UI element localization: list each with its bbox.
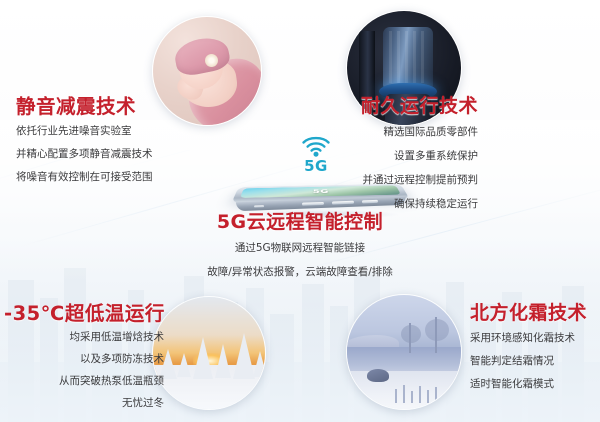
feature-line-lowtemp-2: 从而突破热泵低温瓶颈 <box>4 373 164 390</box>
sleeping-baby-photo <box>152 16 262 126</box>
feature-block-lowtemp: -35℃超低温运行 均采用低温增焓技术 以及多项防冻技术 从而突破热泵低温瓶颈 … <box>4 303 164 412</box>
feature-line-durable-2: 并通过远程控制提前预判 <box>361 172 478 189</box>
feature-block-defrost: 北方化霜技术 采用环境感知化霜技术 智能判定结霜情况 适时智能化霜模式 <box>470 303 587 393</box>
feature-heading-durable: 耐久运行技术 <box>361 96 478 117</box>
feature-line-durable-0: 精选国际品质零部件 <box>361 124 478 141</box>
feature-line-defrost-0: 采用环境感知化霜技术 <box>470 330 587 347</box>
feature-line-defrost-1: 智能判定结霜情况 <box>470 353 587 370</box>
feature-heading-defrost: 北方化霜技术 <box>470 303 587 324</box>
feature-line-quiet-0: 依托行业先进噪音实验室 <box>16 123 153 140</box>
feature-block-5g: 5G云远程智能控制 通过5G物联网远程智能链接 故障/异常状态报警，云端故障查看… <box>0 212 600 281</box>
feature-line-durable-1: 设置多重系统保护 <box>361 148 478 165</box>
feature-line-quiet-2: 将噪音有效控制在可接受范围 <box>16 169 153 186</box>
feature-line-lowtemp-0: 均采用低温增焓技术 <box>4 329 164 346</box>
phone-speaker <box>254 205 264 207</box>
feature-block-durable: 耐久运行技术 精选国际品质零部件 设置多重系统保护 并通过远程控制提前预判 确保… <box>361 96 478 213</box>
feature-line-5g-1: 故障/异常状态报警，云端故障查看/排除 <box>0 264 600 281</box>
feature-line-lowtemp-3: 无忧过冬 <box>4 395 164 412</box>
feature-line-quiet-1: 并精心配置多项静音减震技术 <box>16 146 153 163</box>
feature-heading-5g: 5G云远程智能控制 <box>0 212 600 233</box>
phone-button-1 <box>302 202 324 206</box>
feature-heading-quiet: 静音减震技术 <box>16 96 153 117</box>
feature-line-defrost-2: 适时智能化霜模式 <box>470 376 587 393</box>
infographic-poster: 5G 5G 5G云远程智能控制 通过5G物联网远程智能链接 故障/异常状态报警，… <box>0 0 600 422</box>
frosty-lakeside-photo <box>346 294 462 410</box>
feature-line-lowtemp-1: 以及多项防冻技术 <box>4 351 164 368</box>
feature-line-5g-0: 通过5G物联网远程智能链接 <box>0 240 600 257</box>
feature-line-durable-3: 确保持续稳定运行 <box>361 196 478 213</box>
feature-heading-lowtemp: -35℃超低温运行 <box>4 303 164 324</box>
feature-block-quiet: 静音减震技术 依托行业先进噪音实验室 并精心配置多项静音减震技术 将噪音有效控制… <box>16 96 153 186</box>
snowy-forest-sunrise-photo <box>152 296 266 410</box>
phone-button-2 <box>332 201 354 205</box>
